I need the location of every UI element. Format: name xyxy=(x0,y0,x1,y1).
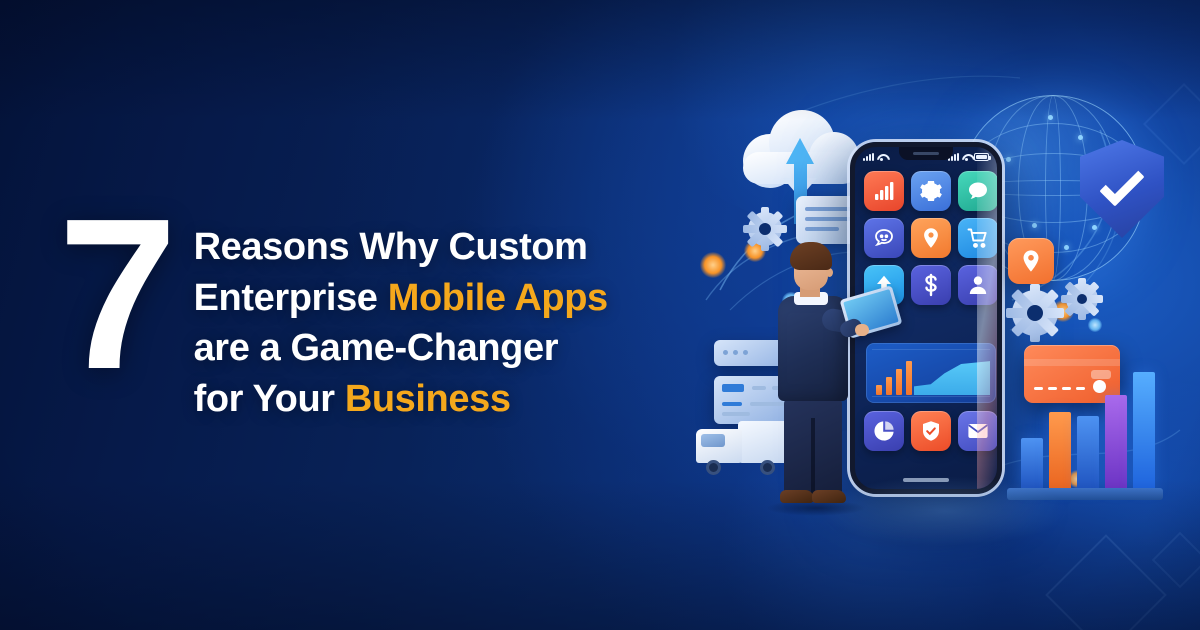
gear-icon-large xyxy=(1012,290,1058,336)
app-icon-bar-chart[interactable] xyxy=(864,171,904,211)
businessman-figure xyxy=(760,238,870,518)
headline-line-2-highlight: Mobile Apps xyxy=(388,277,608,319)
headline-line-4: for Your Business xyxy=(194,374,608,425)
headline-block: 7 Reasons Why Custom Enterprise Mobile A… xyxy=(58,208,608,424)
chart-base xyxy=(1007,488,1163,500)
app-icon-message-emoji[interactable] xyxy=(864,218,904,258)
home-indicator xyxy=(903,478,949,482)
headline-number: 7 xyxy=(58,202,172,387)
headline-text: Reasons Why Custom Enterprise Mobile App… xyxy=(194,222,608,424)
chart-bar-3 xyxy=(1077,416,1099,490)
gear-icon-small xyxy=(1066,283,1098,315)
app-icon-location-pin[interactable] xyxy=(911,218,951,258)
app-icon-shopping-cart[interactable] xyxy=(958,218,998,258)
app-icon-grid-bottom xyxy=(864,411,998,451)
speaker-grill xyxy=(913,152,939,155)
location-pin-tile[interactable] xyxy=(1008,238,1054,284)
battery-icon xyxy=(974,153,989,161)
app-icon-dollar-sign[interactable] xyxy=(911,265,951,305)
app-icon-pie-chart[interactable] xyxy=(864,411,904,451)
wifi-icon xyxy=(962,153,971,161)
glow-dot-orange xyxy=(700,252,726,278)
headline-line-1: Reasons Why Custom xyxy=(194,222,608,273)
wifi-icon xyxy=(877,153,886,161)
glow-dot-blue xyxy=(1088,318,1102,332)
analytics-widget[interactable] xyxy=(866,343,996,403)
illustration xyxy=(660,0,1200,630)
app-icon-mail-envelope[interactable] xyxy=(958,411,998,451)
app-icon-shield-check[interactable] xyxy=(911,411,951,451)
app-icon-user-profile[interactable] xyxy=(958,265,998,305)
phone-notch xyxy=(899,147,953,160)
headline-line-3-text: are a Game-Changer xyxy=(194,327,559,369)
headline-line-2-plain: Enterprise xyxy=(194,277,388,319)
promo-banner: 7 Reasons Why Custom Enterprise Mobile A… xyxy=(0,0,1200,630)
signal-bars-icon xyxy=(863,153,874,161)
chart-bar-1 xyxy=(1021,438,1043,490)
headline-line-2: Enterprise Mobile Apps xyxy=(194,273,608,324)
app-icon-grid-top xyxy=(864,171,998,305)
security-shield-icon xyxy=(1080,140,1164,238)
growth-bar-chart xyxy=(1015,365,1155,500)
headline-line-4-plain: for Your xyxy=(194,378,345,420)
chart-bar-4 xyxy=(1105,395,1127,490)
headline-line-4-highlight: Business xyxy=(345,378,511,420)
app-icon-chat-bubble[interactable] xyxy=(958,171,998,211)
headline-line-1-text: Reasons Why Custom xyxy=(194,226,588,268)
headline-line-3: are a Game-Changer xyxy=(194,323,608,374)
chart-bar-5 xyxy=(1133,372,1155,490)
app-icon-gear[interactable] xyxy=(911,171,951,211)
chart-bar-2 xyxy=(1049,412,1071,490)
